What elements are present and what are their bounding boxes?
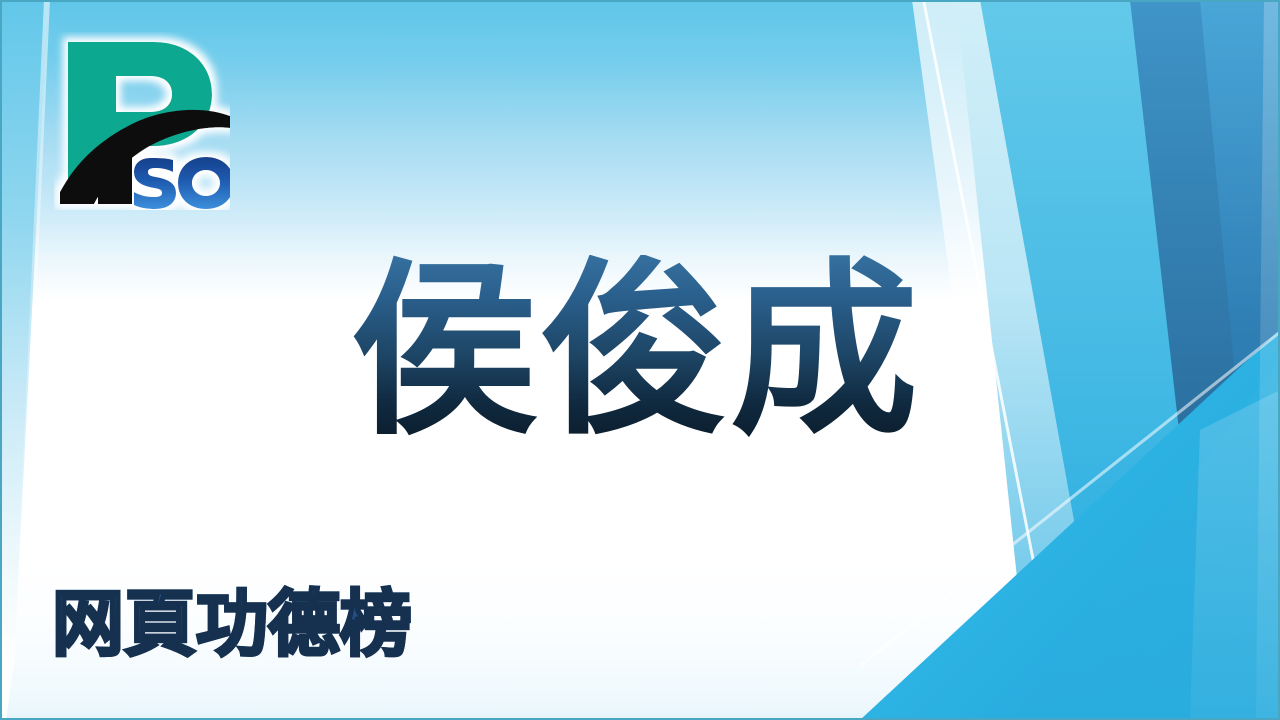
right-decorative-panels: [860, 0, 1280, 720]
slide-subtitle-text: 网頁功德榜: [52, 582, 412, 666]
slide-subtitle: 网頁功德榜: [52, 588, 412, 660]
logo-glyphs: [60, 42, 230, 209]
logo-p-stem-black: [98, 150, 132, 204]
logo-so-text: [134, 157, 230, 209]
pso-logo: [54, 32, 230, 210]
page-title: 侯俊成: [350, 255, 920, 449]
presentation-slide: 侯俊成 网頁功德榜: [0, 0, 1280, 720]
